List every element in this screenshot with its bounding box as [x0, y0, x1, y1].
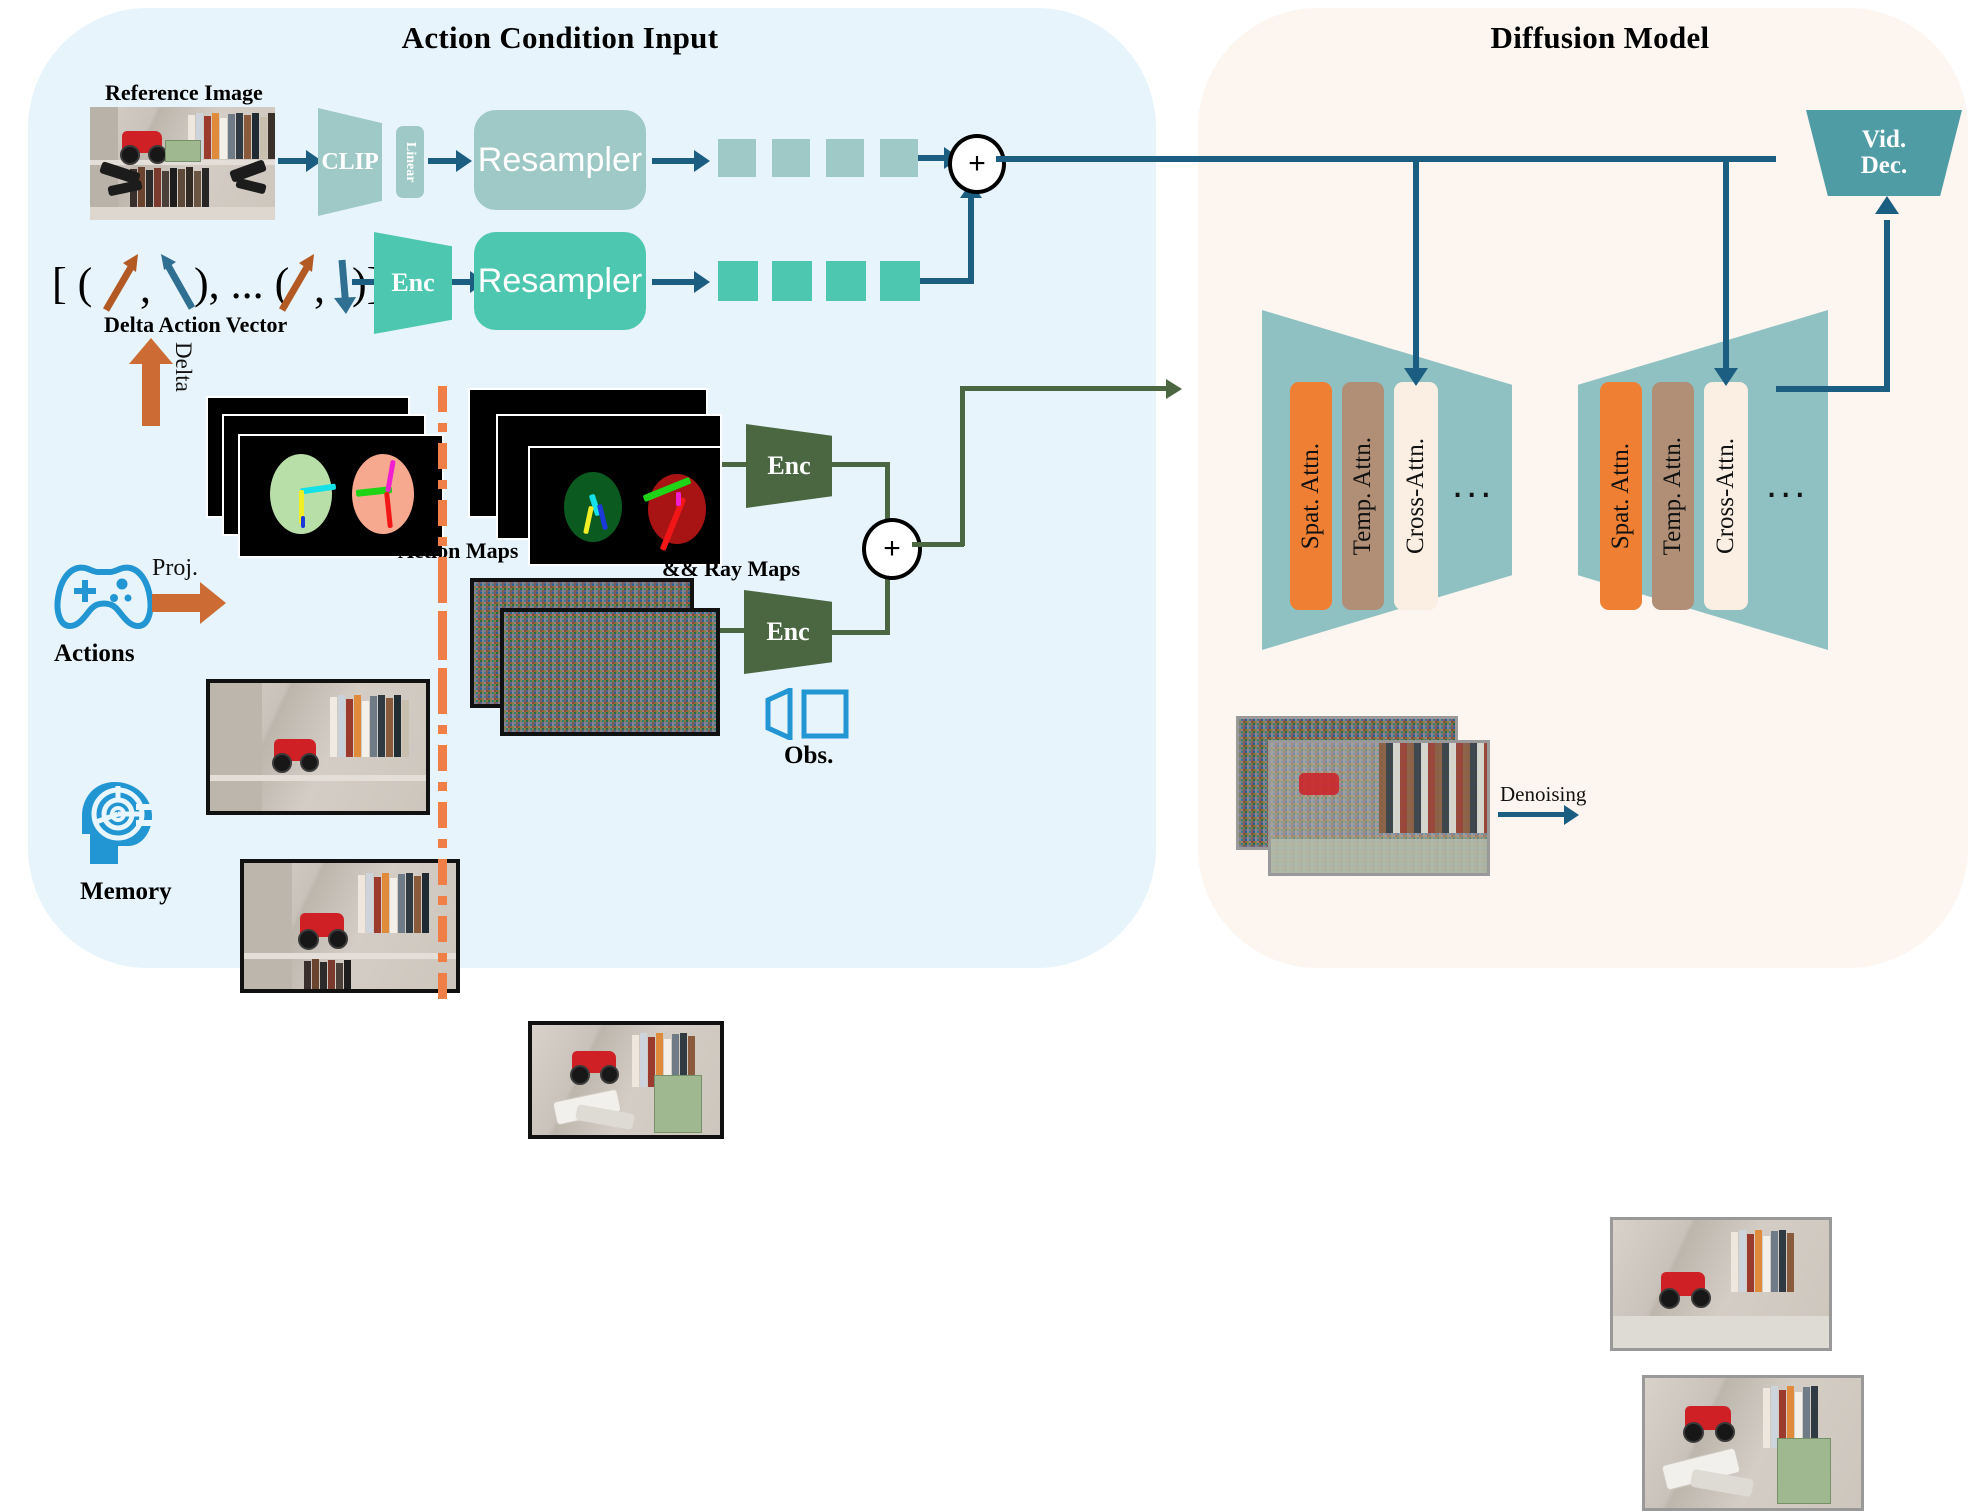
ray-maps-encoder-label: Enc	[767, 451, 810, 481]
attn-spat-up-label: Spat. Attn.	[1607, 443, 1635, 549]
obs-frame-noise-front	[500, 608, 720, 736]
arrow-linear-to-resampler-head	[456, 150, 472, 172]
line-action-tokens-right	[920, 278, 974, 284]
action-map-left-stick-blue	[301, 516, 305, 528]
denoise-output-back	[1610, 1217, 1832, 1351]
image-token	[772, 139, 810, 177]
arrow-resampler-action-to-tokens-head	[694, 271, 710, 293]
line-obs-enc-up	[885, 572, 890, 632]
line-sum-to-unet-right	[960, 386, 1170, 391]
video-decoder-line2: Dec.	[1861, 153, 1908, 179]
line-unet-out-up	[1884, 220, 1890, 390]
action-encoder: Enc	[374, 232, 452, 334]
denoise-output-front	[1642, 1375, 1864, 1511]
arrow-cond-drop-up-head	[1714, 368, 1738, 386]
action-token	[772, 261, 812, 301]
action-maps-label: Action Maps	[398, 538, 518, 564]
denoise-input-front	[1268, 740, 1490, 876]
arrow-raymaps-to-enc	[722, 462, 750, 467]
divider-dashdot-bottom	[438, 574, 447, 1010]
camera-frustum-icon	[764, 688, 850, 740]
reference-image-photo	[90, 107, 275, 220]
obs-frame-clean	[528, 1021, 724, 1139]
resampler-action-label: Resampler	[478, 262, 642, 301]
reference-image-label: Reference Image	[105, 80, 263, 106]
condition-sum-node: +	[948, 134, 1006, 194]
attn-spat-down-label: Spat. Attn.	[1297, 443, 1325, 549]
unet-down-ellipsis: ...	[1452, 462, 1494, 507]
line-cond-bus	[996, 156, 1776, 162]
attn-temp-up-label: Temp. Attn.	[1659, 437, 1687, 555]
latent-sum-node: +	[862, 518, 922, 580]
arrow-linear-to-resampler	[428, 158, 458, 164]
obs-label: Obs.	[784, 742, 833, 770]
actions-label: Actions	[54, 640, 135, 668]
line-cond-drop-up	[1723, 156, 1729, 372]
attn-cross-up-label: Cross-Attn.	[1712, 438, 1740, 554]
video-decoder-line1: Vid.	[1862, 127, 1906, 153]
obs-encoder-label: Enc	[766, 617, 809, 647]
clip-label: CLIP	[321, 149, 378, 176]
ray-map-front	[528, 446, 722, 566]
delta-arrow-up-orange-1	[98, 250, 144, 316]
line-enc-top-right	[832, 462, 890, 467]
action-token	[880, 261, 920, 301]
vector-comma-1: ,	[140, 262, 151, 313]
gamepad-icon	[50, 558, 158, 634]
arrow-denoising	[1498, 812, 1568, 817]
line-cond-drop-down	[1413, 156, 1419, 372]
image-token	[880, 139, 918, 177]
attn-cross-down: Cross-Attn.	[1394, 382, 1438, 610]
clip-encoder: CLIP	[318, 108, 382, 216]
attn-cross-up: Cross-Attn.	[1704, 382, 1748, 610]
delta-up-arrow	[128, 338, 174, 426]
denoising-label: Denoising	[1500, 782, 1586, 807]
attn-spat-down: Spat. Attn.	[1290, 382, 1332, 610]
memory-frame-front	[240, 859, 460, 993]
vector-comma-2: ,	[314, 262, 325, 313]
action-token	[826, 261, 866, 301]
panel-title-right: Diffusion Model	[1410, 20, 1790, 56]
obs-encoder: Enc	[744, 590, 832, 674]
action-encoder-label: Enc	[391, 268, 434, 298]
line-enc-top-down	[885, 462, 890, 526]
resampler-image: Resampler	[474, 110, 646, 210]
ray-map-right-magenta	[676, 492, 681, 506]
arrow-sum-to-unet-head	[1166, 379, 1182, 399]
arrow-obs-to-enc	[720, 628, 748, 633]
delta-action-vector-caption: Delta Action Vector	[104, 312, 287, 338]
linear-label: Linear	[402, 142, 418, 182]
arrow-unet-out-up-head	[1875, 196, 1899, 214]
arrow-cond-drop-down-head	[1404, 368, 1428, 386]
linear-layer: Linear	[396, 126, 424, 198]
resampler-image-label: Resampler	[478, 141, 642, 180]
arrow-resampler-to-tokens	[652, 158, 696, 164]
proj-arrow	[152, 582, 226, 624]
line-unet-out-right	[1776, 386, 1890, 392]
resampler-action: Resampler	[474, 232, 646, 330]
vector-bracket-open: [ (	[52, 258, 92, 309]
attn-spat-up: Spat. Attn.	[1600, 382, 1642, 610]
arrow-ref-to-clip	[278, 158, 308, 164]
arrow-resampler-action-to-tokens	[652, 279, 696, 285]
memory-label: Memory	[80, 878, 172, 906]
action-token	[718, 261, 758, 301]
line-obs-enc-right	[832, 630, 890, 635]
attn-cross-down-label: Cross-Attn.	[1402, 438, 1430, 554]
image-token	[826, 139, 864, 177]
attn-temp-down-label: Temp. Attn.	[1349, 437, 1377, 555]
arrow-resampler-to-tokens-head	[694, 150, 710, 172]
brain-memory-icon	[74, 778, 156, 868]
video-decoder: Vid. Dec.	[1806, 110, 1962, 196]
line-sum-to-unet	[912, 542, 964, 547]
delta-arrow-label: Delta	[170, 342, 196, 392]
line-action-tokens-up	[968, 196, 974, 284]
ray-maps-encoder: Enc	[746, 424, 832, 508]
image-token	[718, 139, 756, 177]
memory-frame-back	[206, 679, 430, 815]
attn-temp-up: Temp. Attn.	[1652, 382, 1694, 610]
panel-title-left: Action Condition Input	[340, 20, 780, 56]
proj-label: Proj.	[152, 555, 198, 582]
line-sum-to-unet-up	[960, 386, 965, 546]
unet-up-ellipsis: ...	[1766, 462, 1808, 507]
arrow-denoising-head	[1564, 805, 1579, 825]
attn-temp-down: Temp. Attn.	[1342, 382, 1384, 610]
